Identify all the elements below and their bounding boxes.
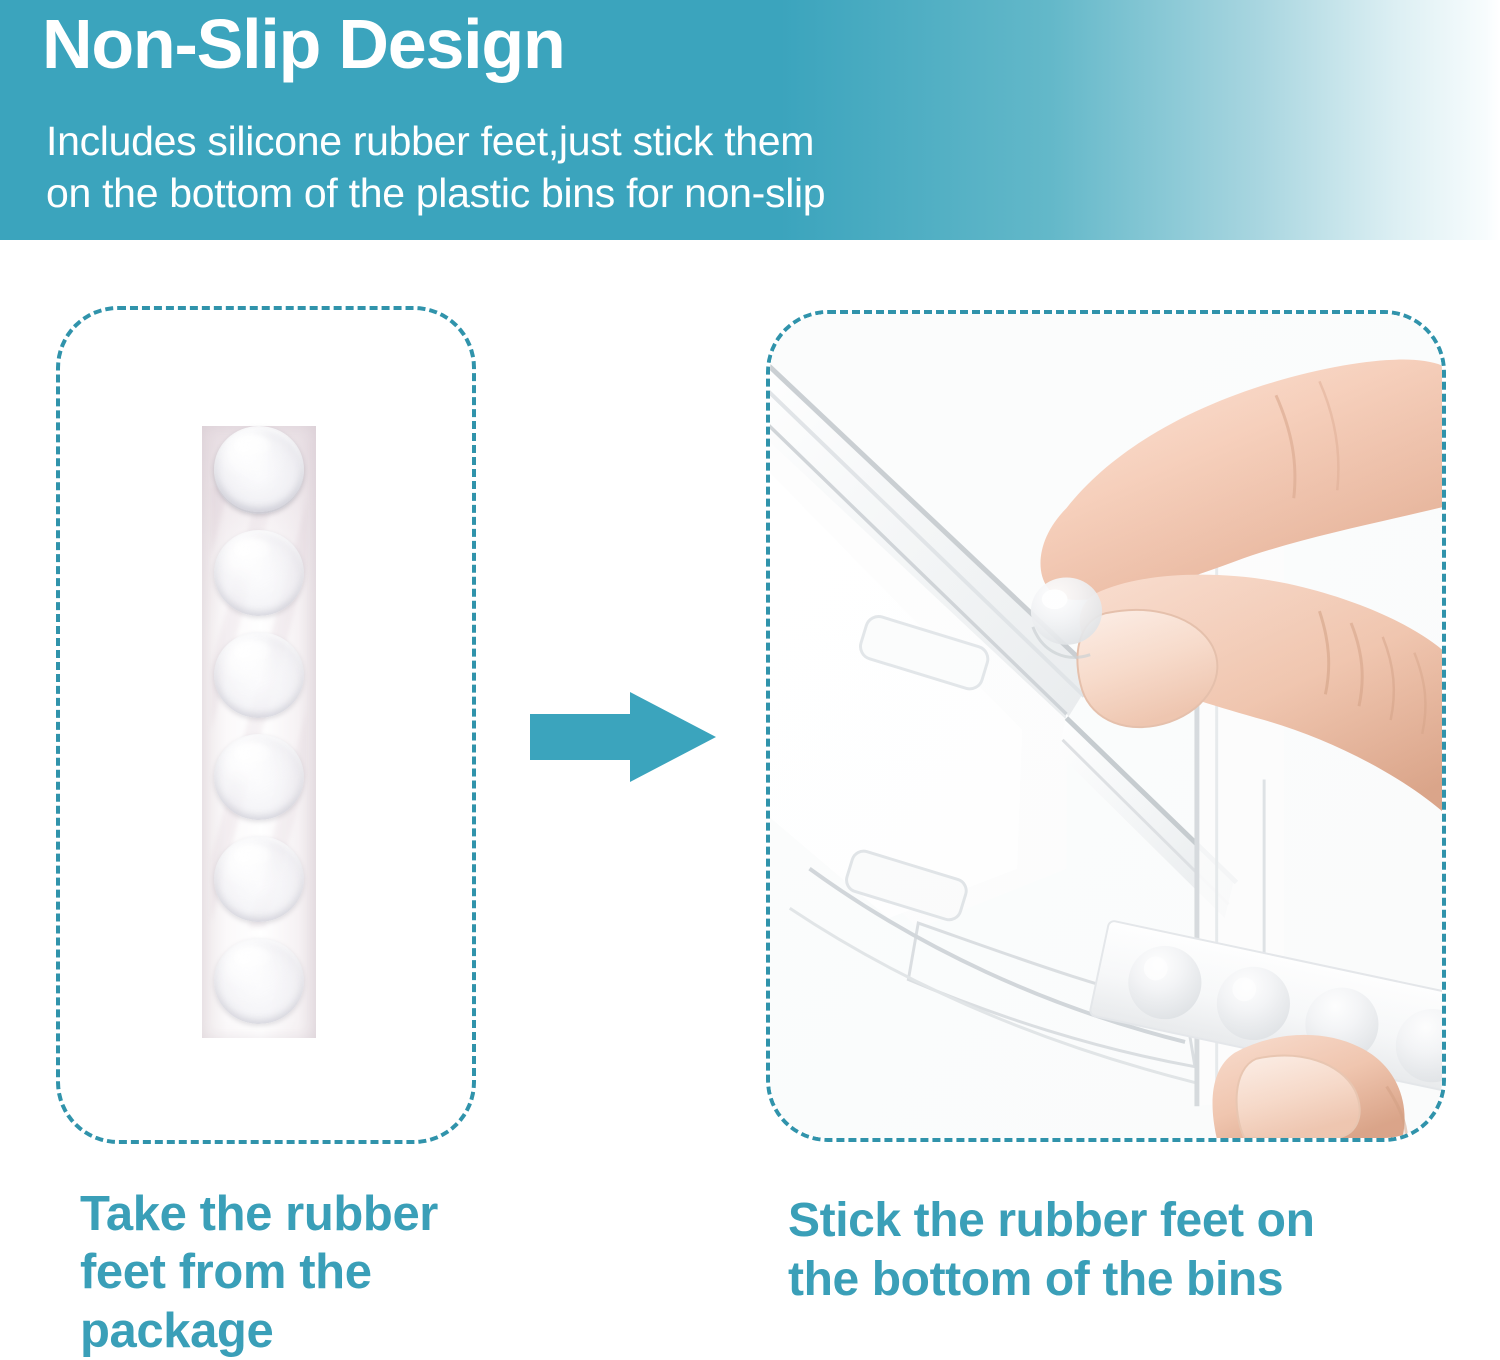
- right-arrow-icon: [530, 688, 716, 786]
- page-title: Non-Slip Design: [42, 9, 565, 79]
- rubber-feet-strip: [202, 426, 316, 1038]
- step-1-image-panel: [56, 306, 476, 1144]
- step-1-caption: Take the rubber feet from the package: [80, 1185, 540, 1360]
- rubber-foot: [214, 734, 304, 820]
- rubber-foot: [214, 938, 304, 1024]
- bin-and-hand-photo: [770, 314, 1442, 1138]
- header-subtitle: Includes silicone rubber feet,just stick…: [46, 115, 825, 220]
- step-2-caption: Stick the rubber feet on the bottom of t…: [788, 1192, 1468, 1309]
- step-2-image-panel: [766, 310, 1446, 1142]
- rubber-foot: [214, 530, 304, 616]
- rubber-foot: [214, 426, 304, 512]
- header-banner: Non-Slip Design Includes silicone rubber…: [0, 0, 1500, 240]
- rubber-foot: [214, 632, 304, 718]
- rubber-foot: [214, 836, 304, 922]
